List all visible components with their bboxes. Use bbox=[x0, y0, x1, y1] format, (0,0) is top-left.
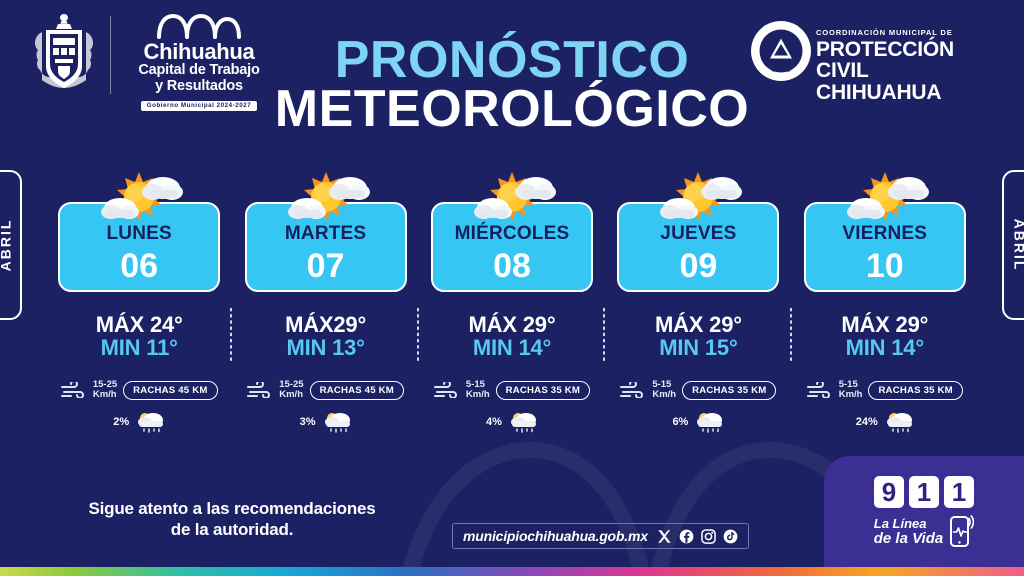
wind-row: 15-25 Km/h RACHAS 45 KM bbox=[61, 380, 218, 401]
month-tab-left: ABRIL bbox=[0, 170, 22, 320]
civil-protection-kicker: COORDINACIÓN MUNICIPAL DE bbox=[816, 28, 1006, 37]
wind-speed-unit: Km/h bbox=[652, 389, 676, 400]
wind-icon bbox=[807, 382, 833, 398]
header: Chihuahua Capital de Trabajo y Resultado… bbox=[0, 0, 1024, 150]
emergency-digit-3: 1 bbox=[944, 476, 974, 508]
temperature-block: MÁX29° MIN 13° bbox=[285, 314, 366, 360]
civil-protection-line-2: CHIHUAHUA bbox=[816, 82, 1006, 103]
day-card[interactable]: MARTES 07 bbox=[245, 202, 407, 292]
forecast-day: JUEVES 09 MÁX 29° MIN 15° 5-15 Km/h bbox=[605, 170, 791, 460]
wind-speed-unit: Km/h bbox=[279, 389, 303, 400]
day-number: 09 bbox=[679, 249, 717, 283]
temperature-block: MÁX 29° MIN 15° bbox=[655, 314, 742, 360]
rain-cloud-icon bbox=[694, 410, 724, 434]
wind-row: 5-15 Km/h RACHAS 35 KM bbox=[434, 380, 590, 401]
forecast-day: MIÉRCOLES 08 MÁX 29° MIN 14° 5-15 Km/h bbox=[419, 170, 605, 460]
temperature-block: MÁX 24° MIN 11° bbox=[96, 314, 183, 360]
day-number: 10 bbox=[866, 249, 904, 283]
forecast-day: LUNES 06 MÁX 24° MIN 11° 15-25 Km/h bbox=[46, 170, 232, 460]
temp-min: MIN 11° bbox=[96, 337, 183, 360]
wind-icon bbox=[620, 382, 646, 398]
temp-max: MÁX 29° bbox=[655, 314, 742, 337]
wind-icon bbox=[434, 382, 460, 398]
temp-min: MIN 14° bbox=[841, 337, 928, 360]
website-url[interactable]: municipiochihuahua.gob.mx bbox=[463, 528, 648, 544]
temp-min: MIN 14° bbox=[469, 337, 556, 360]
emergency-911-badge: 9 1 1 La Línea de la Vida bbox=[824, 456, 1024, 568]
color-strip bbox=[0, 567, 1024, 576]
rain-probability: 24% bbox=[856, 416, 878, 428]
x-icon[interactable] bbox=[657, 529, 672, 544]
phone-pulse-icon bbox=[948, 514, 974, 548]
rain-probability: 3% bbox=[300, 416, 316, 428]
temp-max: MÁX 29° bbox=[841, 314, 928, 337]
wind-speed-unit: Km/h bbox=[466, 389, 490, 400]
rain-cloud-icon bbox=[508, 410, 538, 434]
rain-cloud-icon bbox=[884, 410, 914, 434]
emergency-tagline-line-2: de la Vida bbox=[874, 531, 943, 546]
civil-protection-line-1: PROTECCIÓN CIVIL bbox=[816, 39, 1006, 82]
rain-row: 3% bbox=[300, 410, 352, 434]
rain-probability: 2% bbox=[113, 416, 129, 428]
temp-max: MÁX29° bbox=[285, 314, 366, 337]
day-name: VIERNES bbox=[842, 224, 927, 243]
day-name: JUEVES bbox=[660, 224, 736, 243]
day-name: MIÉRCOLES bbox=[455, 224, 570, 243]
wind-speed: 5-15 Km/h bbox=[839, 380, 863, 401]
wind-icon bbox=[247, 382, 273, 398]
rain-probability: 6% bbox=[672, 416, 688, 428]
rain-row: 24% bbox=[856, 410, 914, 434]
forecast-day: VIERNES 10 MÁX 29° MIN 14° 5-15 Km/h bbox=[792, 170, 978, 460]
facebook-icon[interactable] bbox=[679, 529, 694, 544]
wind-gust-badge: RACHAS 35 KM bbox=[496, 381, 590, 400]
wind-row: 5-15 Km/h RACHAS 35 KM bbox=[620, 380, 776, 401]
wind-icon bbox=[61, 382, 87, 398]
social-links bbox=[657, 529, 738, 544]
emergency-digit-2: 1 bbox=[909, 476, 939, 508]
emergency-tagline-line-1: La Línea bbox=[874, 517, 943, 530]
emergency-tagline: La Línea de la Vida bbox=[874, 514, 974, 548]
wind-speed: 5-15 Km/h bbox=[466, 380, 490, 401]
day-card[interactable]: LUNES 06 bbox=[58, 202, 220, 292]
forecast-grid: LUNES 06 MÁX 24° MIN 11° 15-25 Km/h bbox=[46, 170, 978, 460]
day-name: MARTES bbox=[285, 224, 366, 243]
advice-line-2: de la autoridad. bbox=[171, 520, 293, 539]
temperature-block: MÁX 29° MIN 14° bbox=[469, 314, 556, 360]
day-card[interactable]: JUEVES 09 bbox=[617, 202, 779, 292]
day-number: 08 bbox=[493, 249, 531, 283]
rain-cloud-icon bbox=[322, 410, 352, 434]
wind-row: 15-25 Km/h RACHAS 45 KM bbox=[247, 380, 404, 401]
temp-max: MÁX 29° bbox=[469, 314, 556, 337]
wind-gust-badge: RACHAS 35 KM bbox=[868, 381, 962, 400]
wind-gust-badge: RACHAS 45 KM bbox=[123, 381, 217, 400]
forecast-day: MARTES 07 MÁX29° MIN 13° 15-25 Km/h bbox=[232, 170, 418, 460]
tiktok-icon[interactable] bbox=[723, 529, 738, 544]
wind-row: 5-15 Km/h RACHAS 35 KM bbox=[807, 380, 963, 401]
civil-protection-wordmark: COORDINACIÓN MUNICIPAL DE PROTECCIÓN CIV… bbox=[816, 28, 1006, 103]
rain-probability: 4% bbox=[486, 416, 502, 428]
day-number: 06 bbox=[120, 249, 158, 283]
civil-protection-logo-icon bbox=[750, 20, 812, 82]
wind-speed-unit: Km/h bbox=[839, 389, 863, 400]
advice-line-1: Sigue atento a las recomendaciones bbox=[88, 499, 375, 518]
advice-text: Sigue atento a las recomendaciones de la… bbox=[42, 498, 422, 541]
day-card[interactable]: MIÉRCOLES 08 bbox=[431, 202, 593, 292]
rain-row: 4% bbox=[486, 410, 538, 434]
day-card[interactable]: VIERNES 10 bbox=[804, 202, 966, 292]
instagram-icon[interactable] bbox=[701, 529, 716, 544]
wind-speed: 15-25 Km/h bbox=[93, 380, 117, 401]
wind-speed: 15-25 Km/h bbox=[279, 380, 303, 401]
day-name: LUNES bbox=[106, 224, 171, 243]
wind-speed: 5-15 Km/h bbox=[652, 380, 676, 401]
website-box[interactable]: municipiochihuahua.gob.mx bbox=[452, 523, 749, 549]
emergency-number: 9 1 1 bbox=[874, 476, 974, 508]
day-number: 07 bbox=[307, 249, 345, 283]
rain-row: 6% bbox=[672, 410, 724, 434]
month-tab-right-label: ABRIL bbox=[1011, 219, 1024, 272]
infographic-canvas: Chihuahua Capital de Trabajo y Resultado… bbox=[0, 0, 1024, 576]
month-tab-left-label: ABRIL bbox=[0, 219, 13, 272]
temperature-block: MÁX 29° MIN 14° bbox=[841, 314, 928, 360]
temp-min: MIN 13° bbox=[285, 337, 366, 360]
emergency-digit-1: 9 bbox=[874, 476, 904, 508]
rain-row: 2% bbox=[113, 410, 165, 434]
wind-speed-unit: Km/h bbox=[93, 389, 117, 400]
temp-max: MÁX 24° bbox=[96, 314, 183, 337]
month-tab-right: ABRIL bbox=[1002, 170, 1024, 320]
temp-min: MIN 15° bbox=[655, 337, 742, 360]
wind-gust-badge: RACHAS 45 KM bbox=[310, 381, 404, 400]
wind-gust-badge: RACHAS 35 KM bbox=[682, 381, 776, 400]
rain-cloud-icon bbox=[135, 410, 165, 434]
